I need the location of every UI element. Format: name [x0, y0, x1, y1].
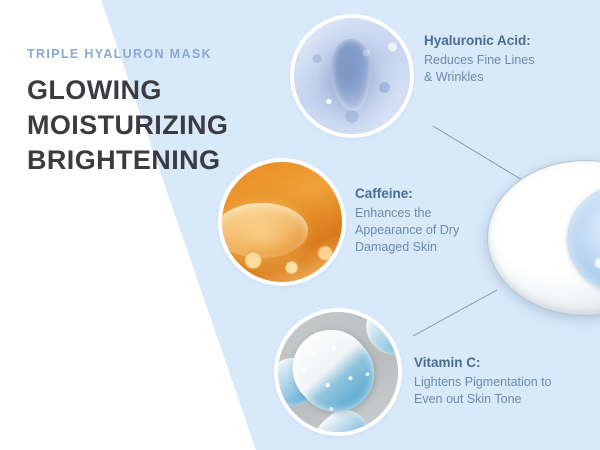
- amber-oil-droplets-photo: [222, 162, 342, 282]
- headline-line-3: BRIGHTENING: [27, 143, 242, 178]
- ingredient-title-colon: :: [408, 186, 413, 201]
- connector-line-lower: [413, 290, 497, 336]
- ingredient-title-colon: :: [476, 355, 481, 370]
- ingredient-title-text: Vitamin C: [414, 355, 476, 370]
- ingredient-title-caffeine: Caffeine:: [355, 186, 505, 203]
- ingredient-block-hyaluronic-acid: Hyaluronic Acid: Reduces Fine Lines & Wr…: [424, 33, 594, 86]
- headline-group: TRIPLE HYALURON MASK GLOWING MOISTURIZIN…: [27, 48, 242, 178]
- blue-gel-serum-texture-photo: [294, 18, 410, 134]
- ingredient-block-vitamin-c: Vitamin C: Lightens Pigmentation to Even…: [414, 355, 594, 408]
- ingredient-block-caffeine: Caffeine: Enhances the Appearance of Dry…: [355, 186, 505, 257]
- ingredient-title-hyaluronic-acid: Hyaluronic Acid:: [424, 33, 594, 50]
- headline-line-2: MOISTURIZING: [27, 108, 242, 143]
- ingredient-body-vitamin-c: Lightens Pigmentation to Even out Skin T…: [414, 374, 594, 409]
- ingredient-title-colon: :: [526, 33, 531, 48]
- blue-white-microbead-capsules-photo: [278, 312, 398, 432]
- eyebrow-text: TRIPLE HYALURON MASK: [27, 48, 242, 61]
- ingredient-image-caffeine: [222, 162, 342, 282]
- infographic-canvas: TRIPLE HYALURON MASK GLOWING MOISTURIZIN…: [0, 0, 600, 450]
- headline-line-1: GLOWING: [27, 73, 242, 108]
- ingredient-body-caffeine: Enhances the Appearance of Dry Damaged S…: [355, 205, 505, 257]
- ingredient-title-text: Caffeine: [355, 186, 408, 201]
- ingredient-image-hyaluronic-acid: [294, 18, 410, 134]
- ingredient-title-text: Hyaluronic Acid: [424, 33, 526, 48]
- ingredient-body-hyaluronic-acid: Reduces Fine Lines & Wrinkles: [424, 52, 594, 87]
- ingredient-image-vitamin-c: [278, 312, 398, 432]
- ingredient-title-vitamin-c: Vitamin C:: [414, 355, 594, 372]
